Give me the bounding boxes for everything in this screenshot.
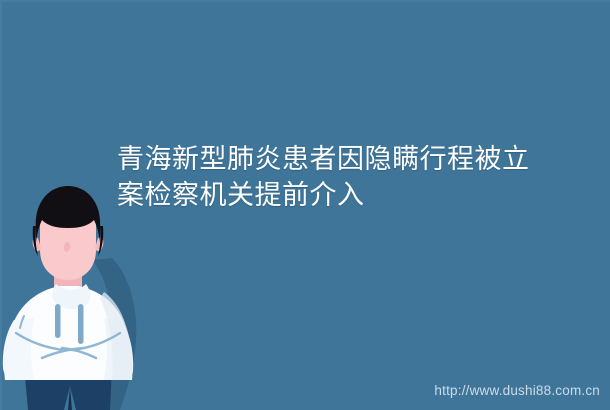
person-illustration	[0, 180, 155, 410]
headline-line-2: 案检察机关提前介入	[117, 177, 597, 213]
headline-text: 青海新型肺炎患者因隐瞒行程被立 案检察机关提前介入	[117, 141, 597, 213]
news-thumbnail-banner: 青海新型肺炎患者因隐瞒行程被立 案检察机关提前介入 http://www.dus…	[0, 0, 610, 410]
head	[33, 186, 104, 280]
headline-line-1: 青海新型肺炎患者因隐瞒行程被立	[117, 141, 597, 177]
source-url-watermark: http://www.dushi88.com.cn	[434, 383, 600, 399]
